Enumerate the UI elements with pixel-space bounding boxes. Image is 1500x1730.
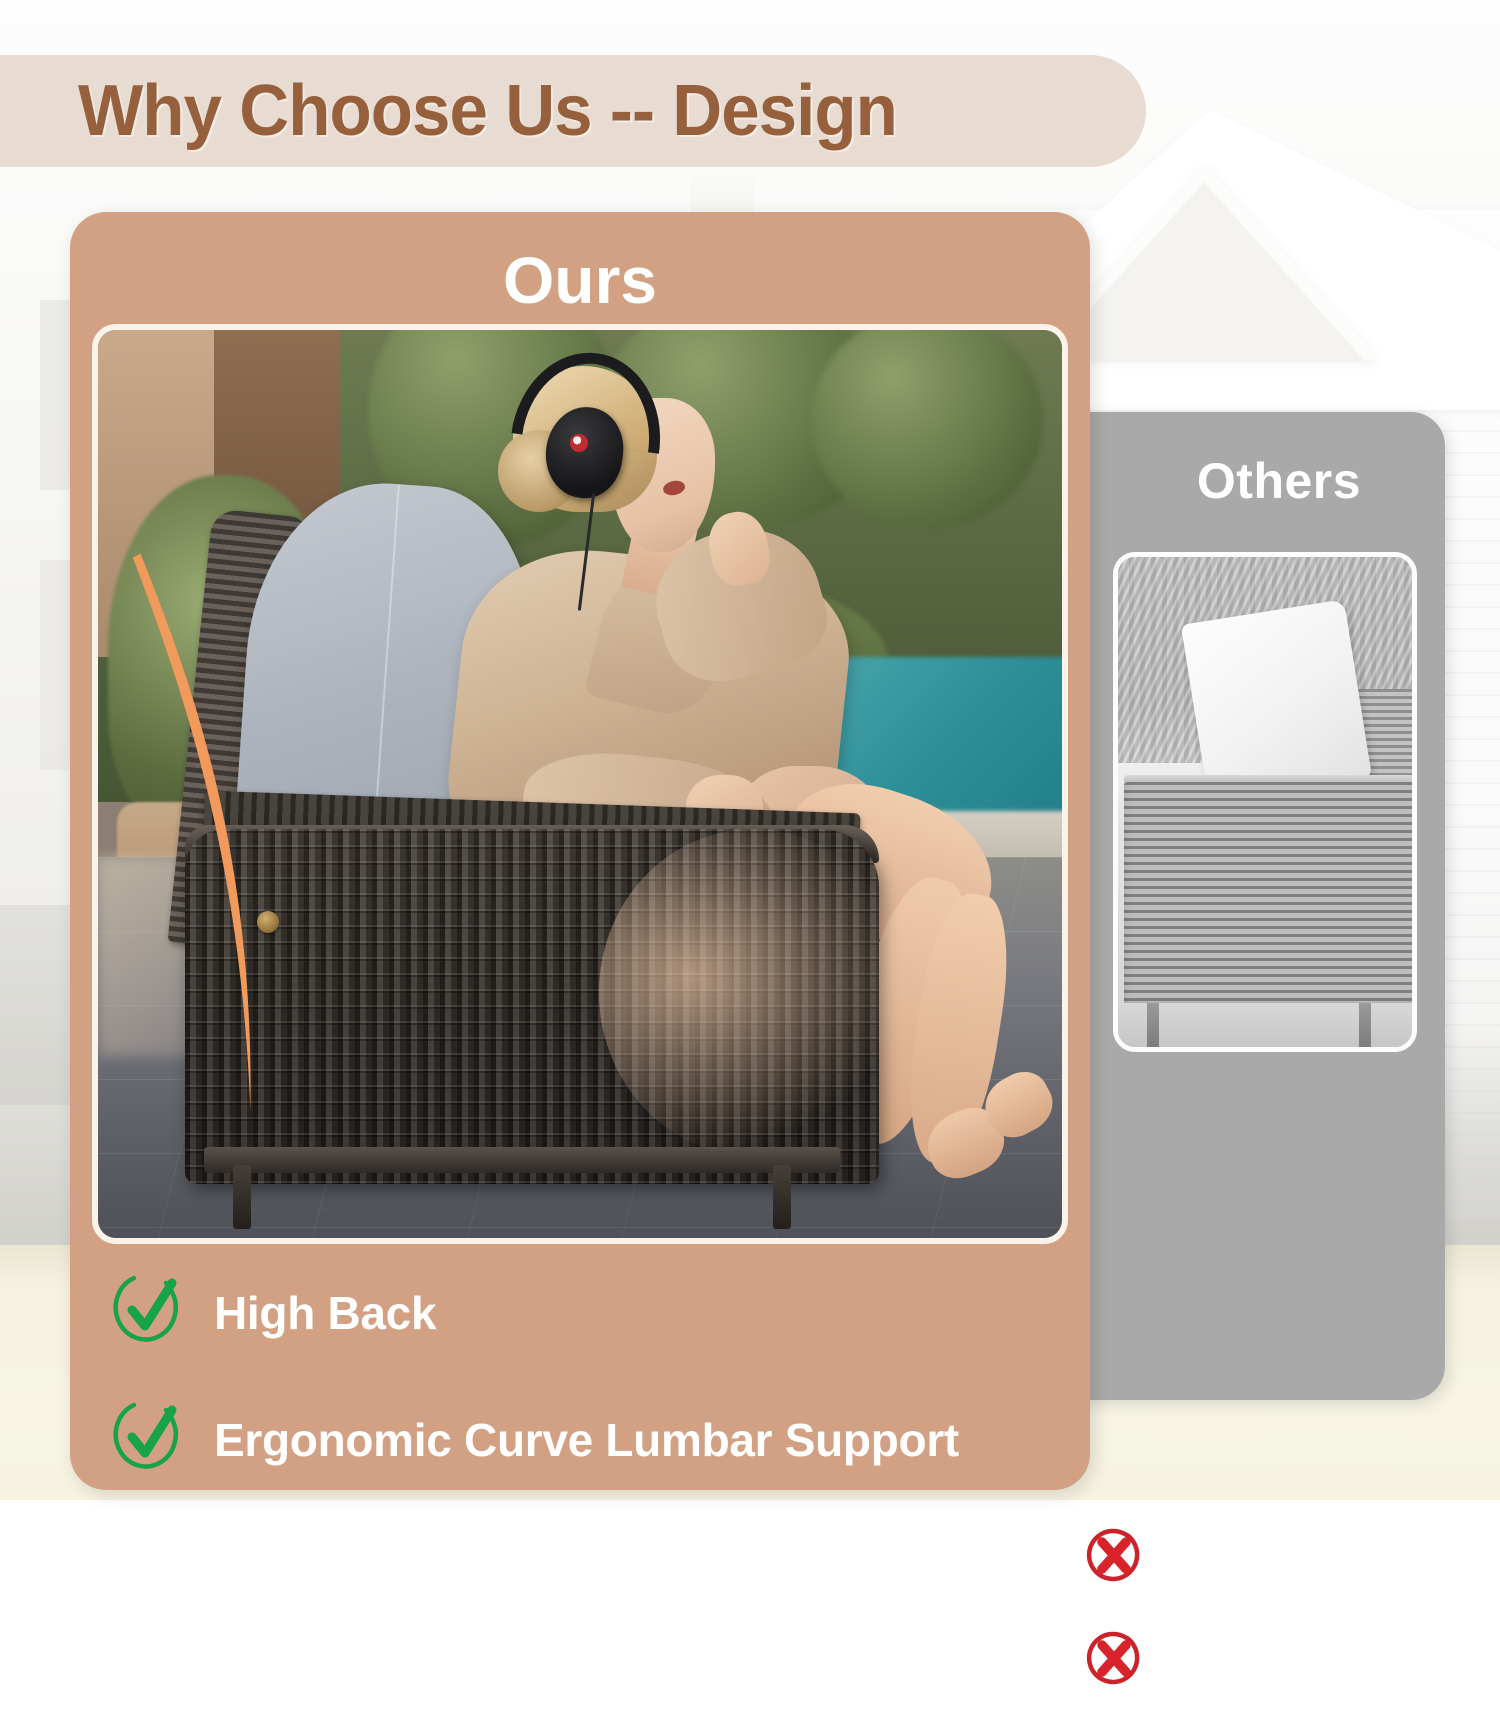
list-item-label: Ergonomic Curve Lumbar Support — [214, 1413, 959, 1467]
ours-feature-list: High Back Ergonomic Curve Lumbar Support — [110, 1270, 1070, 1524]
list-item-label: Straight Back — [1161, 1639, 1403, 1682]
list-item-label: High Back — [214, 1286, 436, 1340]
others-product-photo — [1113, 552, 1417, 1052]
list-item: Low Back — [1083, 1524, 1447, 1591]
background-gable-trim — [1042, 182, 1366, 362]
others-feature-list: Low Back Straight Back — [1083, 1524, 1447, 1730]
list-item-label: Low Back — [1161, 1536, 1337, 1579]
others-comparison-panel: Others Low Back — [1055, 412, 1445, 1400]
ours-product-photo — [92, 324, 1068, 1244]
green-check-circle-icon — [110, 1270, 190, 1355]
list-item: Ergonomic Curve Lumbar Support — [110, 1397, 1070, 1482]
others-panel-title: Others — [1055, 452, 1445, 510]
red-x-circle-icon — [1083, 1627, 1145, 1694]
list-item: High Back — [110, 1270, 1070, 1355]
ours-comparison-panel: Ours — [70, 212, 1090, 1490]
list-item: Straight Back — [1083, 1627, 1447, 1694]
title-banner: Why Choose Us -- Design — [0, 55, 1146, 167]
red-x-circle-icon — [1083, 1524, 1145, 1591]
ours-panel-title: Ours — [70, 242, 1090, 318]
page-title: Why Choose Us -- Design — [78, 70, 897, 152]
green-check-circle-icon — [110, 1397, 190, 1482]
